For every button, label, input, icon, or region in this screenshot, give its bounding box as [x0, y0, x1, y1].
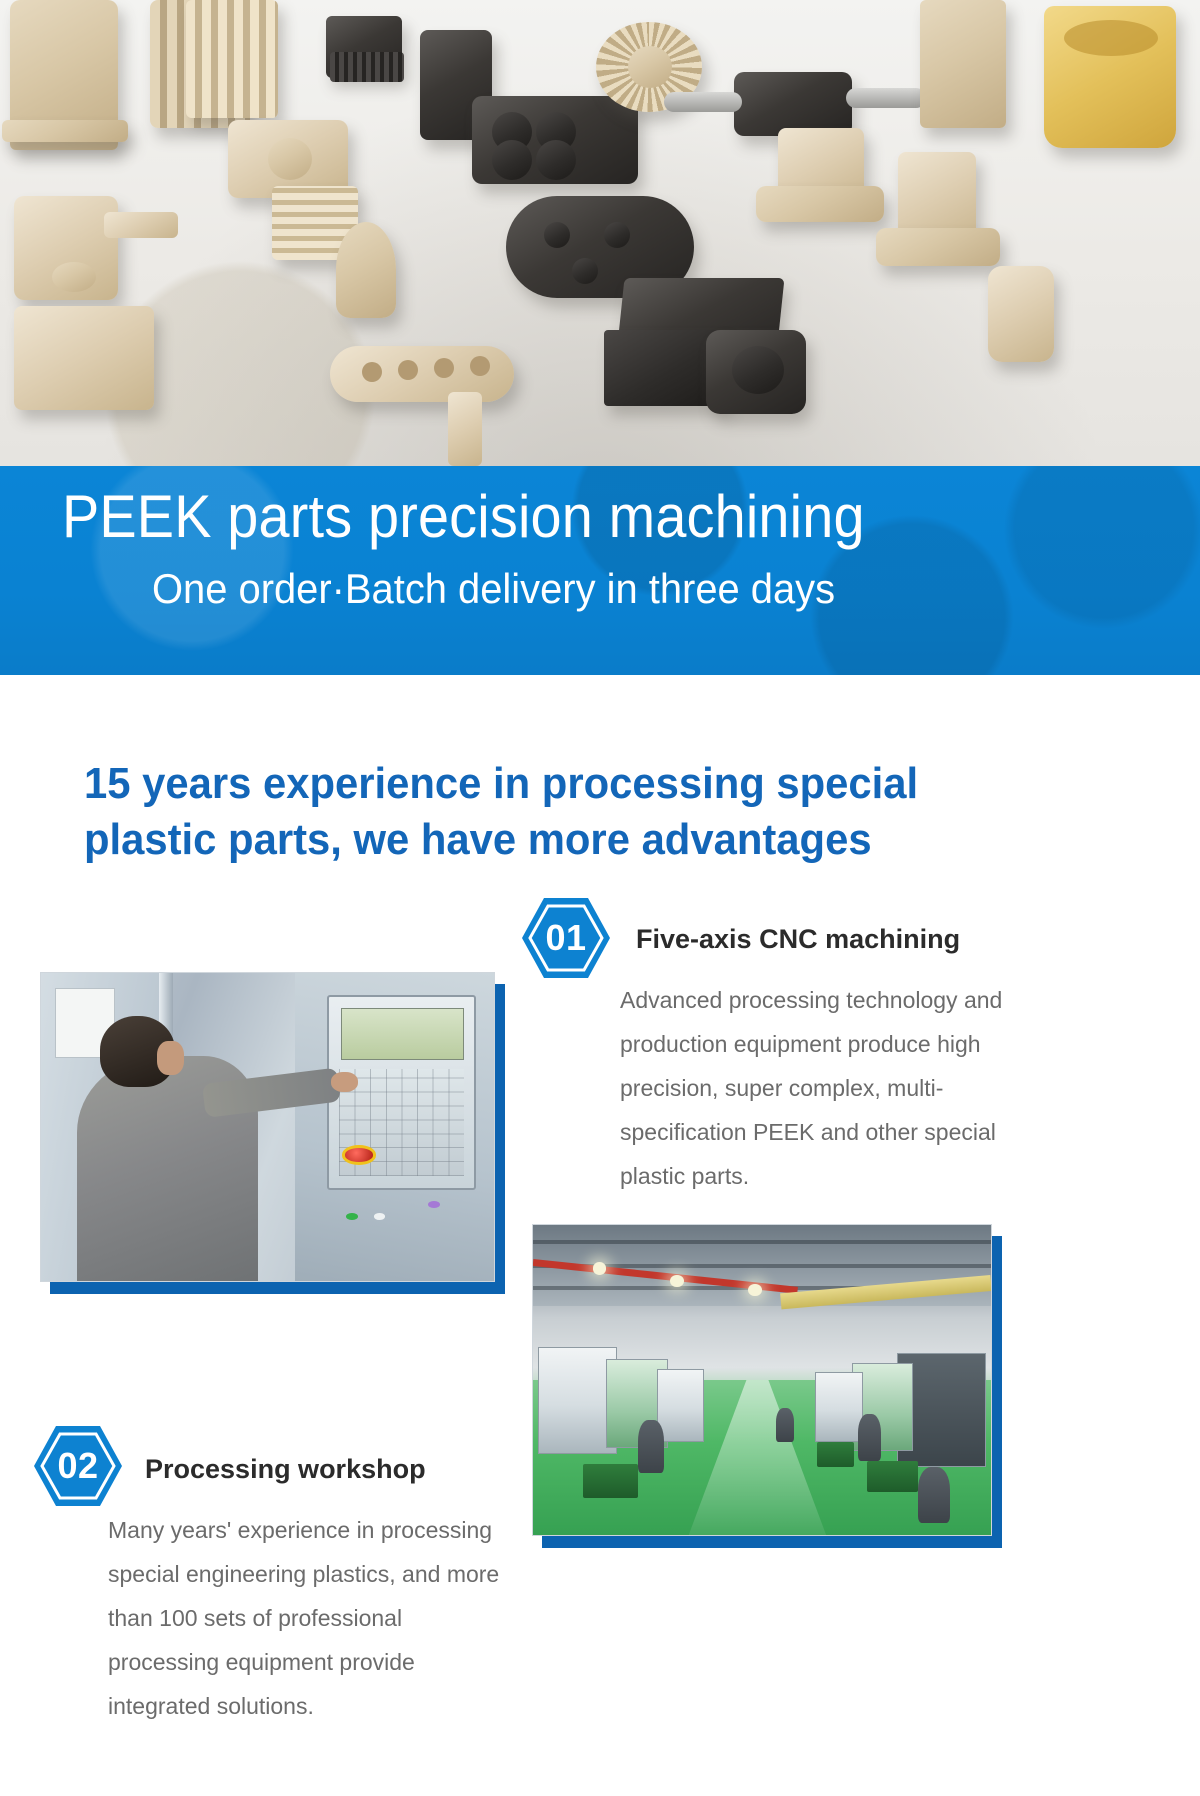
feature-01-badge: 01	[520, 892, 612, 984]
ceiling-lamp-1	[593, 1262, 607, 1274]
feature-01-number: 01	[520, 892, 612, 984]
part-amber-cup-bore	[1064, 20, 1158, 56]
worker-right	[858, 1414, 881, 1461]
part-elbow-nozzle	[104, 212, 178, 238]
worker-center	[776, 1408, 794, 1442]
part-gear-bore	[628, 46, 672, 88]
feature-02-body: Many years' experience in processing spe…	[108, 1508, 508, 1728]
operator-face	[157, 1041, 184, 1075]
cnc-emergency-stop-button	[342, 1145, 376, 1164]
feature-01-body: Advanced processing technology and produ…	[620, 978, 1040, 1198]
product-detail-page: PEEK parts precision machining One order…	[0, 0, 1200, 1796]
part-flange-right	[756, 186, 884, 222]
hero-parts-photo	[0, 0, 1200, 466]
part-bar-hole-4	[470, 356, 490, 376]
cnc-indicator-violet	[428, 1201, 440, 1208]
worker-foreground	[918, 1467, 950, 1523]
worker-left	[638, 1420, 663, 1473]
banner-title: PEEK parts precision machining	[62, 482, 865, 552]
feature-01-photo	[40, 972, 495, 1282]
workshop-cart-center	[817, 1442, 854, 1467]
part-ribbed-cylinder	[186, 0, 278, 118]
ceiling-lamp-2	[670, 1275, 684, 1287]
part-bar-hole-2	[398, 360, 418, 380]
part-roller	[734, 72, 852, 136]
feature-02-badge: 02	[32, 1420, 124, 1512]
part-roller-shaft-left	[664, 92, 742, 112]
banner-subtitle: One order·Batch delivery in three days	[152, 563, 835, 615]
feature-02-number: 02	[32, 1420, 124, 1512]
part-flange-hub	[268, 138, 312, 180]
workshop-machine-left-3	[657, 1369, 705, 1442]
workshop-cart-right	[867, 1461, 917, 1492]
part-tall-sleeve	[920, 0, 1006, 128]
feature-01-image-frame	[40, 972, 495, 1282]
cnc-screen	[341, 1008, 465, 1060]
feature-01-title: Five-axis CNC machining	[636, 924, 960, 955]
part-manifold-bore-d	[536, 140, 576, 180]
feature-02-image-frame	[532, 1224, 992, 1536]
cnc-indicator-white	[374, 1213, 386, 1220]
part-manifold-bore-c	[492, 140, 532, 180]
part-bar-stem	[448, 392, 482, 466]
part-cone-tip	[336, 222, 396, 318]
part-drilled-bar	[330, 346, 514, 402]
part-plug-right	[988, 266, 1054, 362]
workshop-cart-left	[583, 1464, 638, 1498]
part-spool-base	[2, 120, 128, 142]
part-oval-hole-3	[572, 258, 598, 284]
workshop-machine-right-3	[815, 1372, 863, 1442]
part-round-boss-bore	[732, 346, 784, 394]
part-bar-hole-3	[434, 358, 454, 378]
part-bar-hole-1	[362, 362, 382, 382]
feature-02-photo	[532, 1224, 992, 1536]
feature-02-title: Processing workshop	[145, 1454, 426, 1485]
part-oval-hole-1	[544, 222, 570, 248]
ceiling-beam-1	[533, 1240, 991, 1244]
part-elbow-bore	[52, 262, 96, 292]
part-flange-right-b	[876, 228, 1000, 266]
operator-hand	[331, 1072, 358, 1092]
hero-banner: PEEK parts precision machining One order…	[0, 466, 1200, 675]
part-roller-shaft-right	[846, 88, 926, 108]
section-heading: 15 years experience in processing specia…	[84, 756, 996, 868]
part-bracket-lower-left	[14, 306, 154, 410]
part-oval-hole-2	[604, 222, 630, 248]
part-thread-shank	[330, 52, 404, 82]
